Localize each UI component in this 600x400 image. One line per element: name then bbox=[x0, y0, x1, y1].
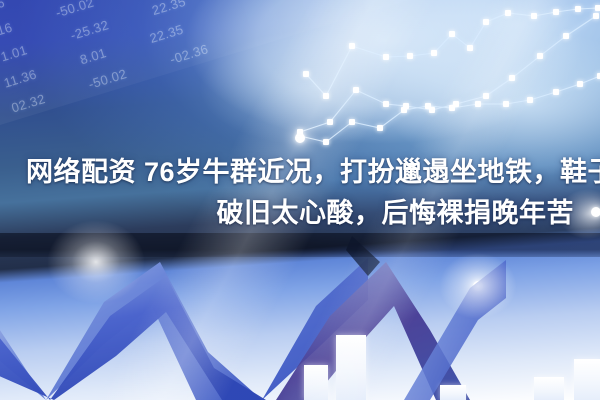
bar-column bbox=[336, 335, 366, 400]
bar-column bbox=[440, 385, 466, 400]
headline-line-2: 破旧太心酸，后悔裸捐晚年苦 bbox=[26, 193, 574, 234]
banner-image: -09.02-02.3621.0345.02-09.38-11.26-02.36… bbox=[0, 0, 600, 400]
bar-column bbox=[534, 377, 564, 400]
bar-column bbox=[574, 359, 600, 400]
bar-column bbox=[304, 365, 328, 400]
headline-line-1: 网络配资 76岁牛群近况，打扮邋遢坐地铁，鞋子 bbox=[26, 152, 574, 193]
headline-block: 网络配资 76岁牛群近况，打扮邋遢坐地铁，鞋子 破旧太心酸，后悔裸捐晚年苦 bbox=[0, 152, 600, 234]
navy-band bbox=[0, 233, 600, 257]
